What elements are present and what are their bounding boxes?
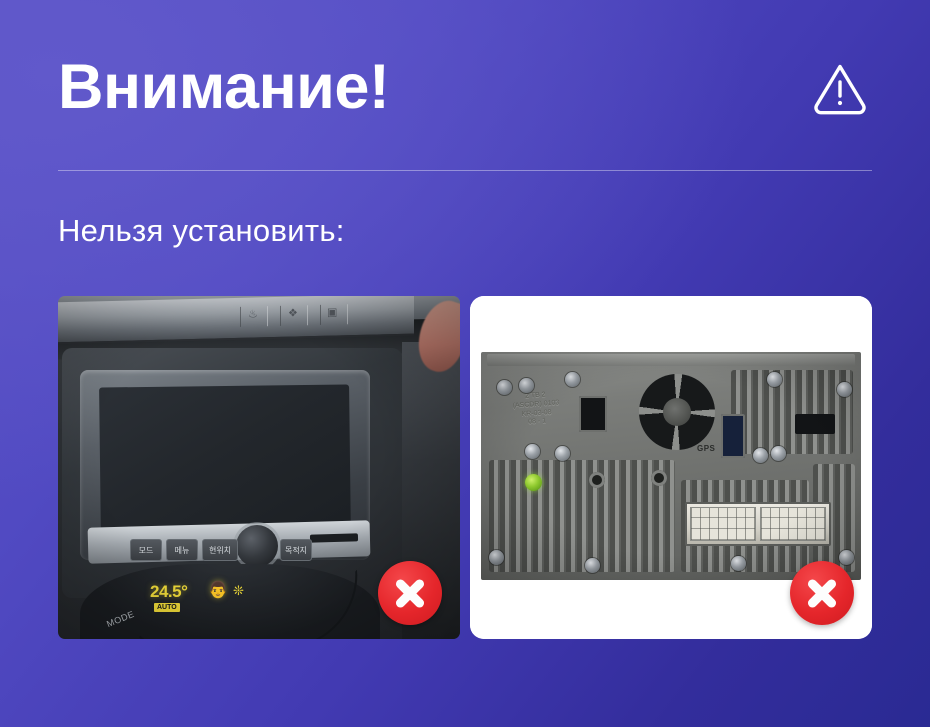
unit-vignette [481, 352, 861, 580]
page-title: Внимание! [58, 56, 389, 119]
subtitle: Нельзя установить: [58, 212, 345, 249]
header-divider [58, 170, 872, 171]
red-x-badge [378, 561, 442, 625]
warning-triangle-icon [812, 59, 868, 115]
red-x-badge [790, 561, 854, 625]
head-unit-chassis: 2 TB 2 (ASCDR) 0103 KR-03-08 08 - 1 GPS [481, 352, 861, 580]
warning-slide: Внимание! Нельзя установить: ♨ ❖ ▣ [0, 0, 930, 727]
card-head-unit-rear[interactable]: 2 TB 2 (ASCDR) 0103 KR-03-08 08 - 1 GPS [470, 296, 872, 639]
photo-card-list: ♨ ❖ ▣ 모드 메뉴 현위치 목적지 24.5° [58, 296, 872, 639]
header: Внимание! [58, 46, 872, 128]
card-car-dashboard[interactable]: ♨ ❖ ▣ 모드 메뉴 현위치 목적지 24.5° [58, 296, 460, 639]
